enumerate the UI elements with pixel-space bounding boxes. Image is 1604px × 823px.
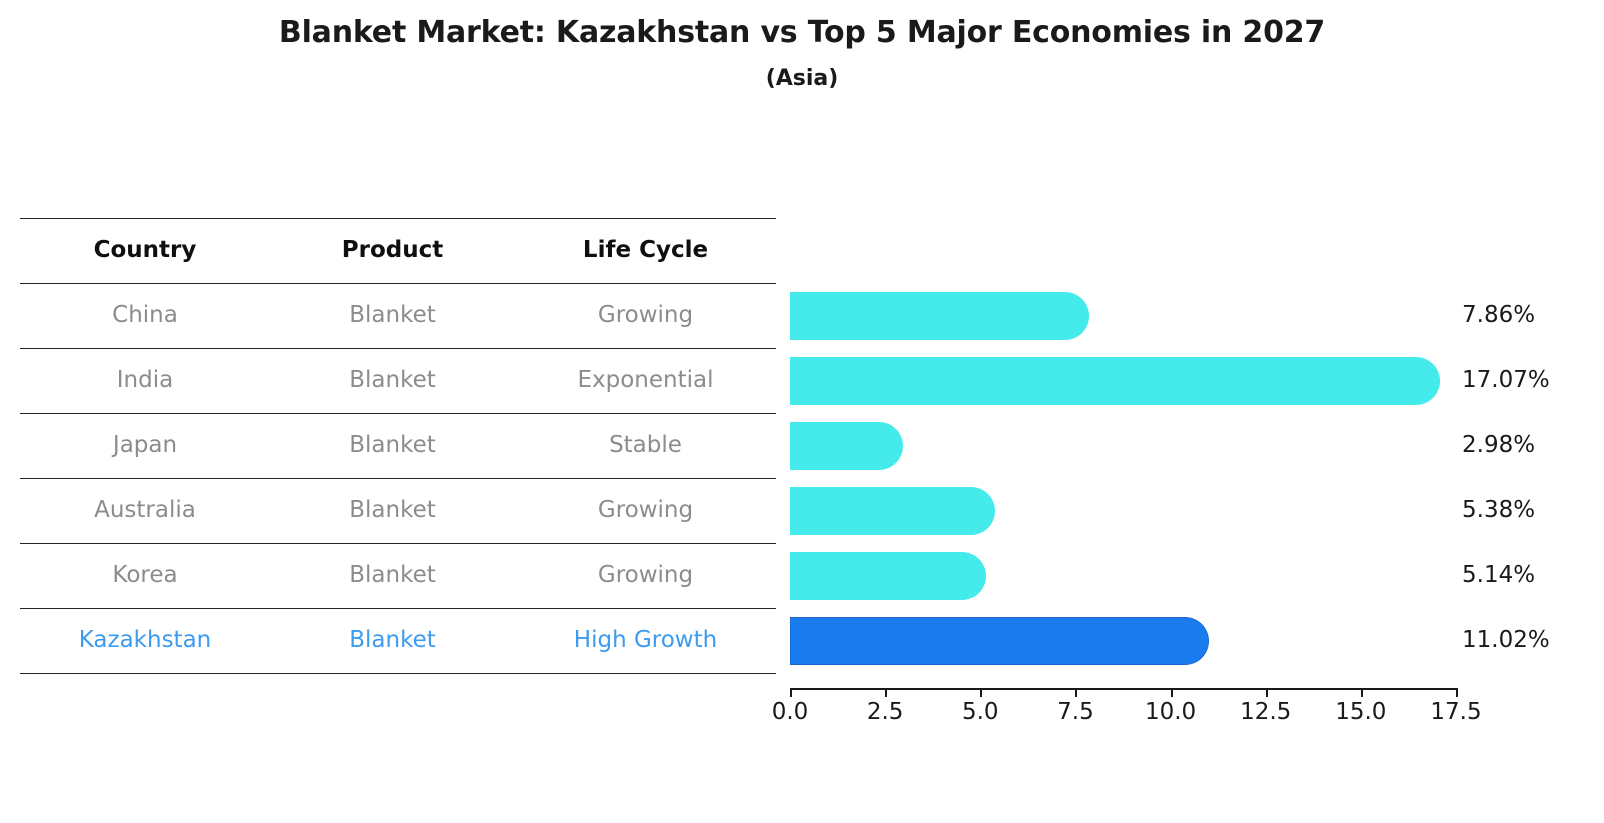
- table-header-row: CountryProductLife Cycle: [20, 218, 776, 283]
- x-tick-label: 15.0: [1335, 701, 1386, 724]
- x-tick-label: 17.5: [1430, 701, 1481, 724]
- title-block: Blanket Market: Kazakhstan vs Top 5 Majo…: [0, 14, 1604, 91]
- bar-value-label: 17.07%: [1462, 369, 1550, 392]
- bar-value-label: 7.86%: [1462, 304, 1535, 327]
- column-header-country: Country: [20, 239, 270, 262]
- table-cell-country: Kazakhstan: [20, 629, 270, 652]
- table-cell-life-cycle: Stable: [515, 434, 776, 457]
- table-row[interactable]: JapanBlanketStable: [20, 413, 776, 478]
- x-tick: [1456, 688, 1458, 697]
- table-row[interactable]: ChinaBlanketGrowing: [20, 283, 776, 348]
- bar-japan[interactable]: [790, 422, 903, 470]
- table-cell-life-cycle: Growing: [515, 304, 776, 327]
- table-cell-life-cycle: High Growth: [515, 629, 776, 652]
- bar-row: 5.14%: [790, 543, 1456, 608]
- bar-row: 7.86%: [790, 283, 1456, 348]
- x-tick-label: 0.0: [772, 701, 809, 724]
- table-cell-product: Blanket: [270, 564, 515, 587]
- table-cell-product: Blanket: [270, 369, 515, 392]
- bar-kazakhstan[interactable]: [790, 617, 1209, 665]
- x-tick: [1075, 688, 1077, 697]
- table-cell-product: Blanket: [270, 629, 515, 652]
- table-row[interactable]: AustraliaBlanketGrowing: [20, 478, 776, 543]
- table-cell-country: Korea: [20, 564, 270, 587]
- page-title: Blanket Market: Kazakhstan vs Top 5 Majo…: [0, 14, 1604, 52]
- x-tick: [1361, 688, 1363, 697]
- table-row[interactable]: KazakhstanBlanketHigh Growth: [20, 608, 776, 673]
- table-cell-country: Australia: [20, 499, 270, 522]
- table-cell-product: Blanket: [270, 304, 515, 327]
- x-tick: [980, 688, 982, 697]
- table-rule-bottom: [20, 673, 776, 674]
- bar-row: 5.38%: [790, 478, 1456, 543]
- table-cell-country: Japan: [20, 434, 270, 457]
- bar-india[interactable]: [790, 357, 1440, 405]
- page-subtitle: (Asia): [0, 66, 1604, 91]
- x-tick-label: 2.5: [867, 701, 904, 724]
- x-tick: [885, 688, 887, 697]
- table-cell-life-cycle: Exponential: [515, 369, 776, 392]
- bar-row: 11.02%: [790, 608, 1456, 673]
- table-row[interactable]: KoreaBlanketGrowing: [20, 543, 776, 608]
- table-cell-product: Blanket: [270, 434, 515, 457]
- bar-korea[interactable]: [790, 552, 986, 600]
- bar-chart-plot-area: 7.86%17.07%2.98%5.38%5.14%11.02%: [790, 218, 1456, 688]
- column-header-life-cycle: Life Cycle: [515, 239, 776, 262]
- bar-value-label: 11.02%: [1462, 629, 1550, 652]
- x-axis: 0.02.55.07.510.012.515.017.5: [790, 688, 1456, 740]
- x-tick: [790, 688, 792, 697]
- table-row[interactable]: IndiaBlanketExponential: [20, 348, 776, 413]
- bar-value-label: 2.98%: [1462, 434, 1535, 457]
- figure-canvas: Blanket Market: Kazakhstan vs Top 5 Majo…: [0, 0, 1604, 823]
- x-tick-label: 12.5: [1240, 701, 1291, 724]
- table-cell-country: India: [20, 369, 270, 392]
- table-cell-product: Blanket: [270, 499, 515, 522]
- data-table: CountryProductLife CycleChinaBlanketGrow…: [20, 218, 776, 675]
- column-header-product: Product: [270, 239, 515, 262]
- bar-australia[interactable]: [790, 487, 995, 535]
- bar-row: 17.07%: [790, 348, 1456, 413]
- x-tick-label: 10.0: [1145, 701, 1196, 724]
- table-cell-life-cycle: Growing: [515, 564, 776, 587]
- x-tick-label: 5.0: [962, 701, 999, 724]
- x-tick-label: 7.5: [1057, 701, 1094, 724]
- table-cell-country: China: [20, 304, 270, 327]
- x-axis-line: [790, 688, 1456, 690]
- x-tick: [1266, 688, 1268, 697]
- x-tick: [1171, 688, 1173, 697]
- bar-value-label: 5.38%: [1462, 499, 1535, 522]
- bar-row: 2.98%: [790, 413, 1456, 478]
- bar-value-label: 5.14%: [1462, 564, 1535, 587]
- bar-china[interactable]: [790, 292, 1089, 340]
- table-cell-life-cycle: Growing: [515, 499, 776, 522]
